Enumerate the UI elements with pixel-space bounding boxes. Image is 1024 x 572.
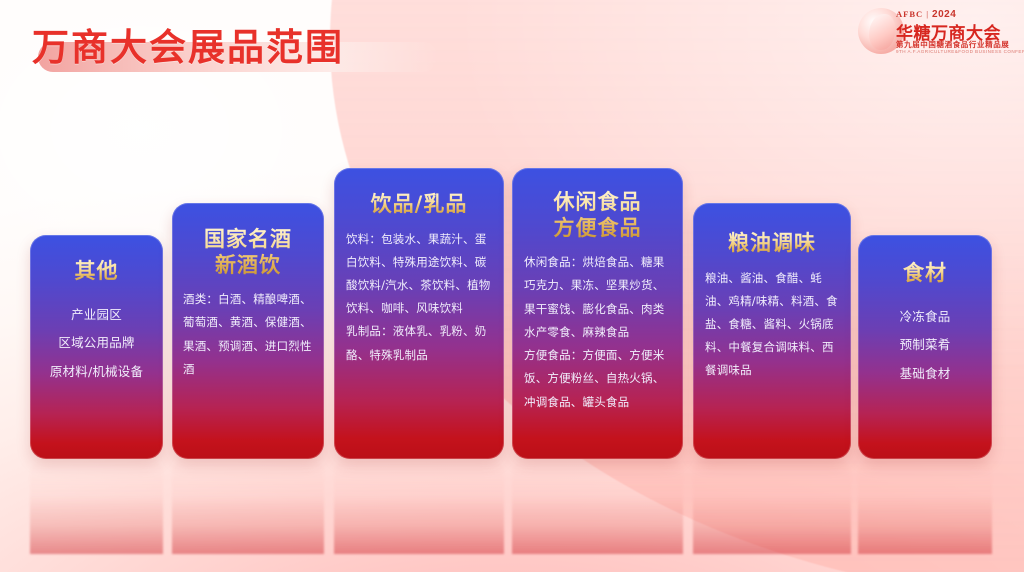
page-title-group: 万商大会展品范围 xyxy=(32,22,344,74)
category-card-line: 饮料：包装水、果蔬汁、蛋白饮料、特殊用途饮料、碳酸饮料/汽水、茶饮料、植物饮料、… xyxy=(346,228,492,321)
category-card-reflection xyxy=(858,459,992,554)
category-card-line: 方便食品：方便面、方便米饭、方便粉丝、自热火锅、冲调食品、罐头食品 xyxy=(524,344,671,414)
category-card-line: 冷冻食品 xyxy=(870,303,980,332)
category-card-title-famous-liquor: 国家名酒新酒饮 xyxy=(183,227,313,278)
category-card-ingredients[interactable]: 食材冷冻食品预制菜肴基础食材 xyxy=(858,235,992,459)
category-card-body-beverage-dairy: 饮料：包装水、果蔬汁、蛋白饮料、特殊用途饮料、碳酸饮料/汽水、茶饮料、植物饮料、… xyxy=(346,228,492,367)
category-card-title-other: 其他 xyxy=(42,259,151,285)
category-card-line: 预制菜肴 xyxy=(870,331,980,360)
category-card-reflection xyxy=(693,459,851,554)
category-card-reflection xyxy=(334,459,504,554)
page-title: 万商大会展品范围 xyxy=(32,22,344,74)
category-card-line: 酒类：白酒、精酿啤酒、葡萄酒、黄酒、保健酒、果酒、预调酒、进口烈性酒 xyxy=(183,288,313,381)
category-card-body-snack-convenience: 休闲食品：烘焙食品、糖果巧克力、果冻、坚果炒货、果干蜜饯、膨化食品、肉类水产零食… xyxy=(524,251,671,414)
category-card-line: 原材料/机械设备 xyxy=(42,358,151,387)
category-card-reflection xyxy=(172,459,324,554)
category-card-snack-convenience[interactable]: 休闲食品方便食品休闲食品：烘焙食品、糖果巧克力、果冻、坚果炒货、果干蜜饯、膨化食… xyxy=(512,168,683,459)
category-card-line: 区域公用品牌 xyxy=(42,329,151,358)
category-card-line: 粮油、酱油、食醋、蚝油、鸡精/味精、料酒、食盐、食糖、酱料、火锅底料、中餐复合调… xyxy=(705,267,839,383)
logo-brand-en: AFBC xyxy=(896,9,923,19)
category-card-body-grain-oil-seasoning: 粮油、酱油、食醋、蚝油、鸡精/味精、料酒、食盐、食糖、酱料、火锅底料、中餐复合调… xyxy=(705,267,839,383)
category-card-reflection xyxy=(512,459,683,554)
slide-canvas: 万商大会展品范围 AFBC|2024 华糖万商大会 第九届中国糖酒食品行业精品展… xyxy=(0,0,1024,572)
category-card-title-beverage-dairy: 饮品/乳品 xyxy=(346,192,492,218)
category-card-line: 休闲食品：烘焙食品、糖果巧克力、果冻、坚果炒货、果干蜜饯、膨化食品、肉类水产零食… xyxy=(524,251,671,344)
category-card-body-other: 产业园区区域公用品牌原材料/机械设备 xyxy=(42,301,151,387)
category-card-title-snack-convenience: 休闲食品方便食品 xyxy=(524,190,671,241)
category-card-title-ingredients: 食材 xyxy=(870,261,980,287)
logo-divider: | xyxy=(923,9,932,19)
category-card-beverage-dairy[interactable]: 饮品/乳品饮料：包装水、果蔬汁、蛋白饮料、特殊用途饮料、碳酸饮料/汽水、茶饮料、… xyxy=(334,168,504,459)
category-card-reflection xyxy=(30,459,163,554)
category-card-line: 产业园区 xyxy=(42,301,151,330)
category-card-line: 基础食材 xyxy=(870,360,980,389)
category-card-body-ingredients: 冷冻食品预制菜肴基础食材 xyxy=(870,303,980,389)
category-card-title-grain-oil-seasoning: 粮油调味 xyxy=(705,231,839,257)
category-card-famous-liquor[interactable]: 国家名酒新酒饮酒类：白酒、精酿啤酒、葡萄酒、黄酒、保健酒、果酒、预调酒、进口烈性… xyxy=(172,203,324,459)
category-card-body-famous-liquor: 酒类：白酒、精酿啤酒、葡萄酒、黄酒、保健酒、果酒、预调酒、进口烈性酒 xyxy=(183,288,313,381)
logo-subtitle-en: 9TH A.F.AGRICULTURE&FOOD BUSINESS CONFER… xyxy=(896,49,1024,54)
category-card-grain-oil-seasoning[interactable]: 粮油调味粮油、酱油、食醋、蚝油、鸡精/味精、料酒、食盐、食糖、酱料、火锅底料、中… xyxy=(693,203,851,459)
category-card-other[interactable]: 其他产业园区区域公用品牌原材料/机械设备 xyxy=(30,235,163,459)
category-card-line: 乳制品：液体乳、乳粉、奶酪、特殊乳制品 xyxy=(346,320,492,366)
event-logo: AFBC|2024 华糖万商大会 第九届中国糖酒食品行业精品展 9TH A.F.… xyxy=(844,4,1012,58)
